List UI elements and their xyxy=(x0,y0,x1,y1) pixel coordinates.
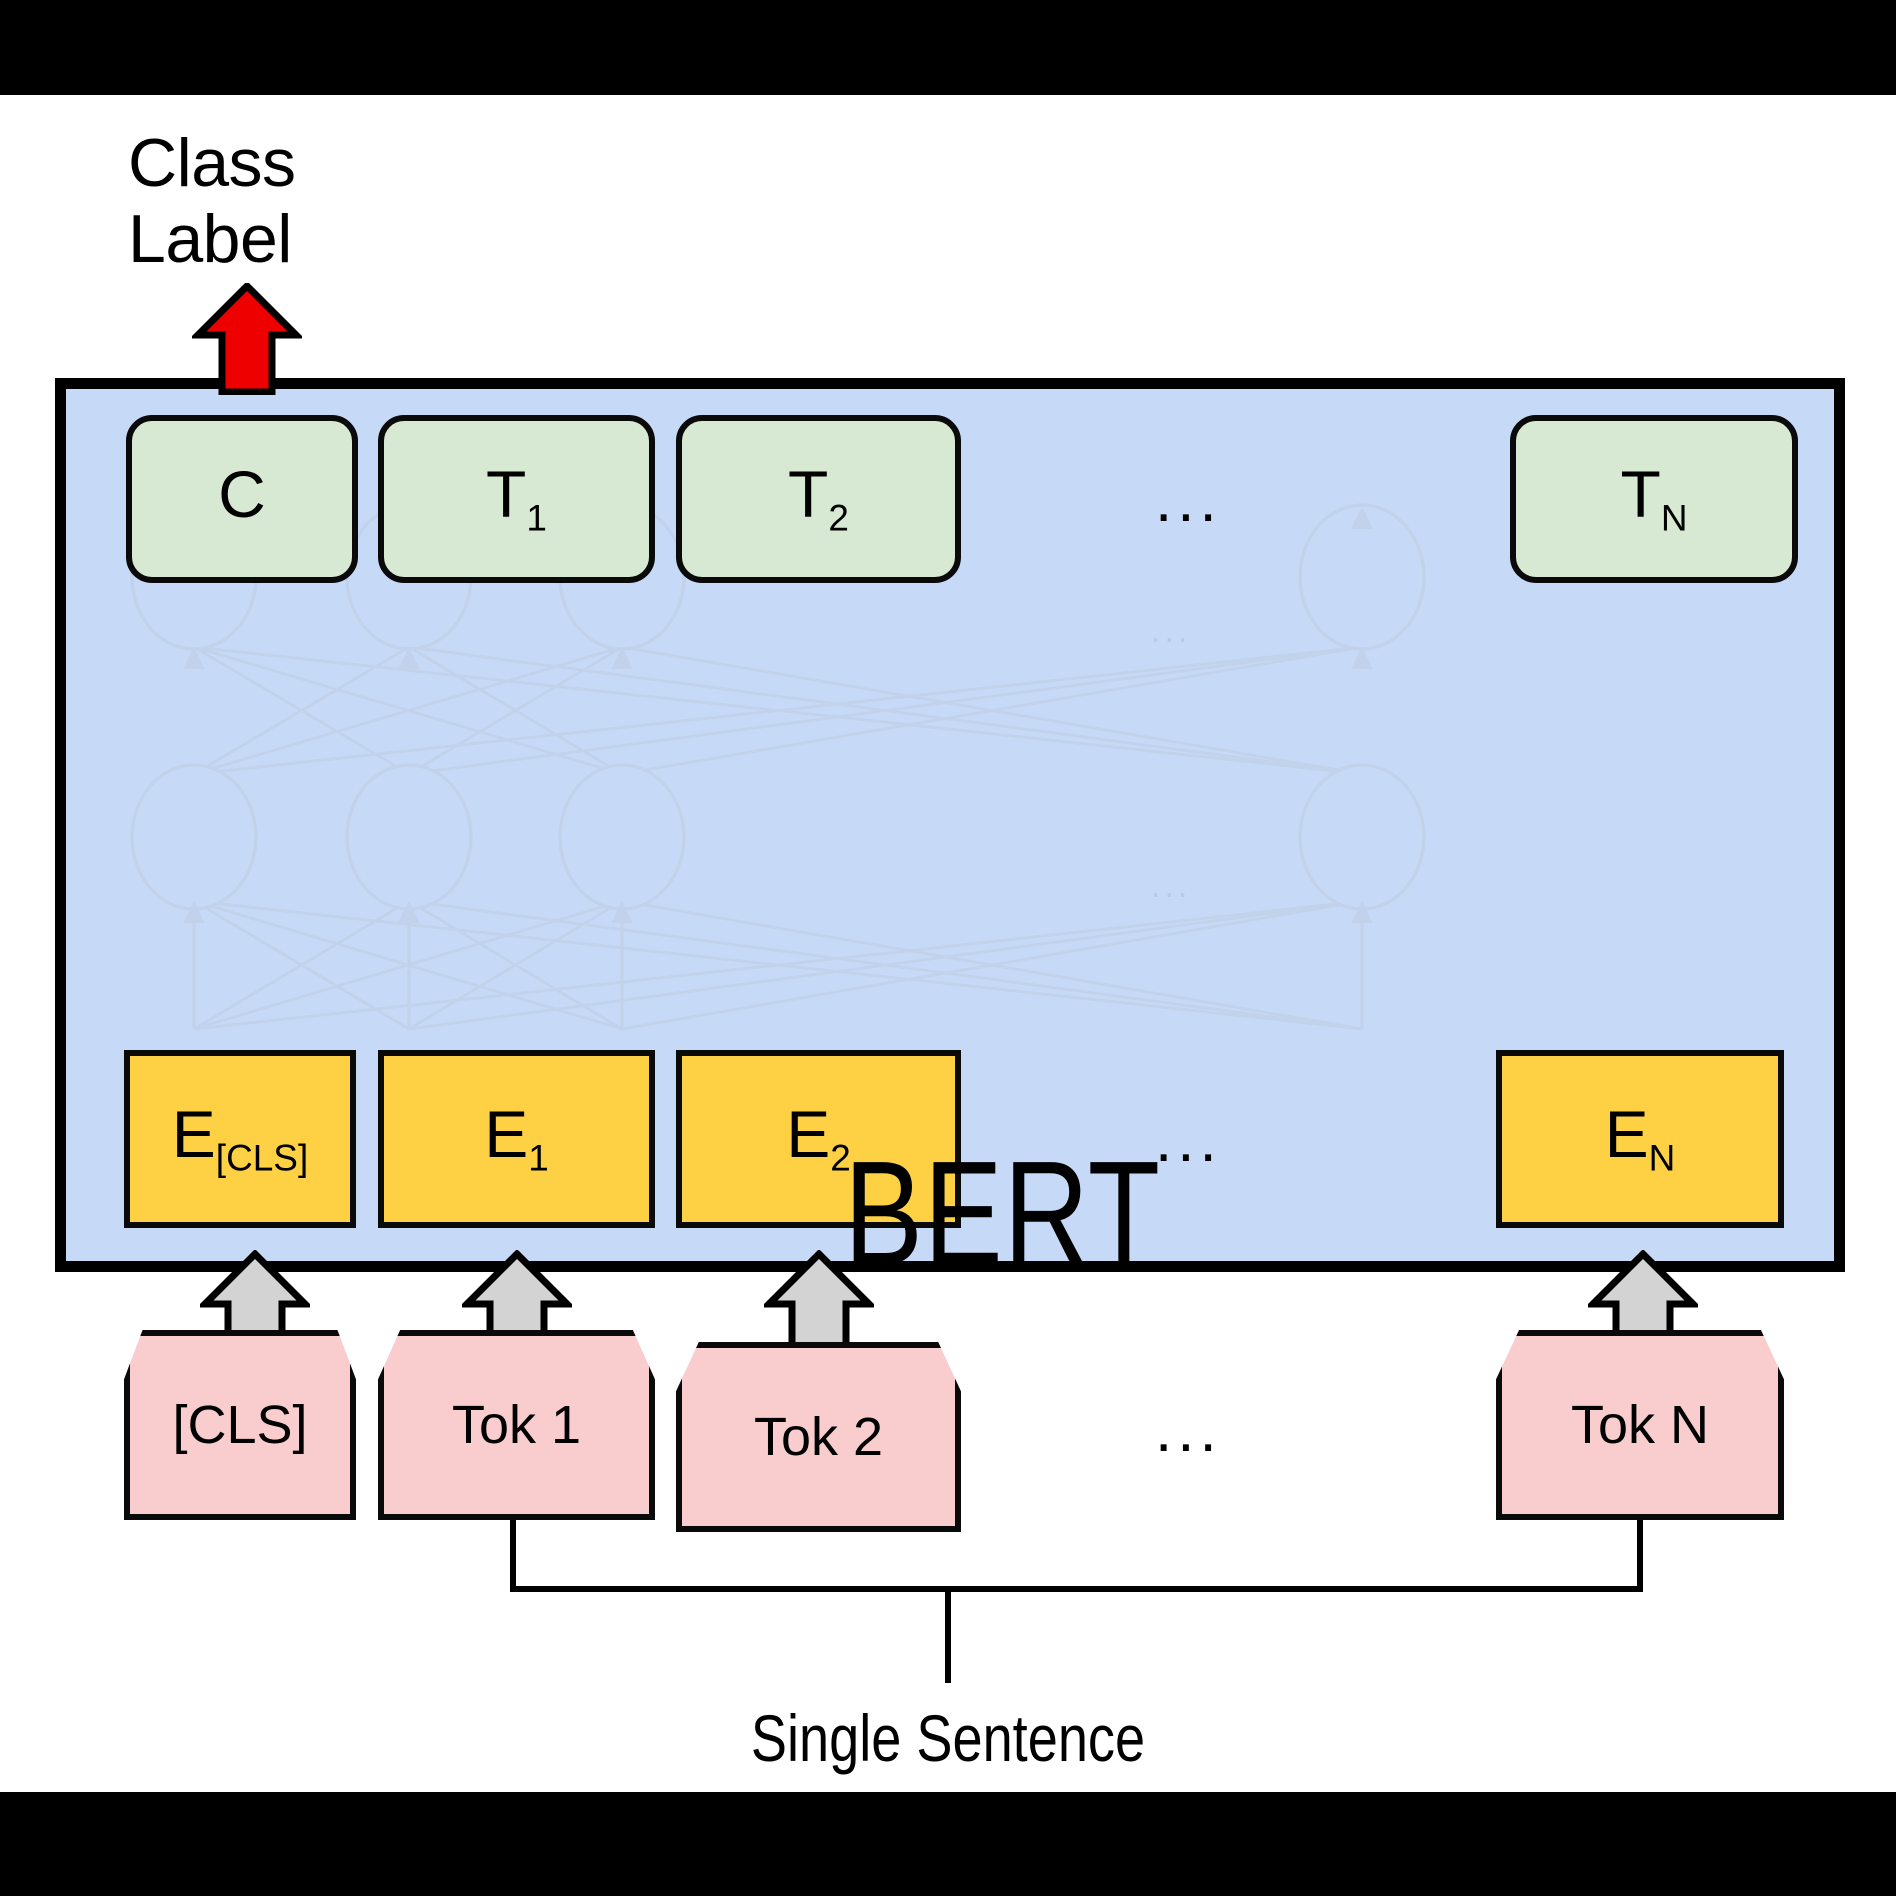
embedding-box-E1[interactable]: E1 xyxy=(378,1050,655,1228)
embedding-box-E1-label: E1 xyxy=(484,1101,549,1177)
class-label-text: Class Label xyxy=(128,125,528,277)
token-box-CLS-label: [CLS] xyxy=(172,1398,307,1452)
letterbox-top xyxy=(0,0,1896,95)
output-row-ellipsis: ... xyxy=(1155,470,1222,532)
embedding-box-ECLS[interactable]: E[CLS] xyxy=(124,1050,356,1228)
token-box-TOK1-label: Tok 1 xyxy=(452,1398,581,1452)
bert-label: BERT xyxy=(844,1129,1161,1299)
embedding-box-EN[interactable]: EN xyxy=(1496,1050,1784,1228)
class-output-arrow-icon xyxy=(192,283,302,395)
single-sentence-label: Single Sentence xyxy=(171,1700,1726,1776)
output-box-T2-label: T2 xyxy=(788,461,849,537)
figure-canvas: BERT ... ... Class Label C T1 T2 TN ... … xyxy=(0,0,1896,1896)
embedding-box-E2-label: E2 xyxy=(786,1101,851,1177)
token-box-CLS[interactable]: [CLS] xyxy=(124,1330,356,1520)
output-box-C-label: C xyxy=(218,461,266,537)
output-box-T2[interactable]: T2 xyxy=(676,415,961,583)
network-ellipsis-upper: ... xyxy=(1151,614,1191,648)
output-box-TN-label: TN xyxy=(1620,461,1687,537)
token-box-TOKN-label: Tok N xyxy=(1571,1398,1709,1452)
output-box-T1[interactable]: T1 xyxy=(378,415,655,583)
output-box-TN[interactable]: TN xyxy=(1510,415,1798,583)
embedding-box-ECLS-label: E[CLS] xyxy=(172,1101,308,1177)
network-ellipsis-lower: ... xyxy=(1151,869,1191,903)
embedding-box-EN-label: EN xyxy=(1605,1101,1676,1177)
embedding-row-ellipsis: ... xyxy=(1155,1110,1222,1172)
token-box-TOK2-label: Tok 2 xyxy=(754,1410,883,1464)
token-box-TOK1[interactable]: Tok 1 xyxy=(378,1330,655,1520)
letterbox-bottom xyxy=(0,1792,1896,1896)
token-row-ellipsis: ... xyxy=(1155,1400,1222,1462)
token-box-TOK2[interactable]: Tok 2 xyxy=(676,1342,961,1532)
output-box-C[interactable]: C xyxy=(126,415,358,583)
token-box-TOKN[interactable]: Tok N xyxy=(1496,1330,1784,1520)
output-box-T1-label: T1 xyxy=(486,461,547,537)
